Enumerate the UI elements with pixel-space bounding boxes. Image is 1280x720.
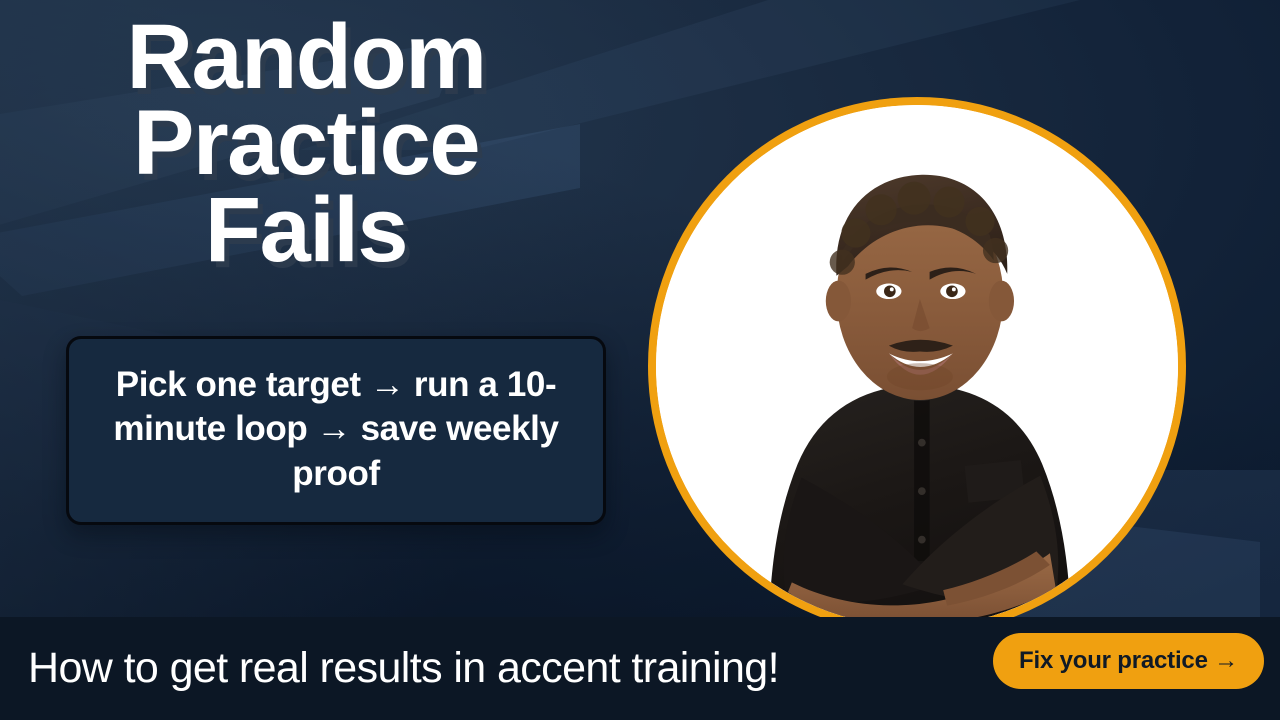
page-title: Random Practice Fails (36, 14, 576, 273)
subtitle-text: Pick one target → run a 10-minute loop →… (91, 363, 581, 496)
portrait-illustration (656, 105, 1178, 627)
thumbnail-canvas: Random Practice Fails Pick one target → … (0, 0, 1280, 720)
fix-your-practice-button[interactable]: Fix your practice → (993, 633, 1264, 689)
portrait-circle-frame (648, 97, 1186, 635)
portrait-photo (656, 105, 1178, 627)
subtitle-card: Pick one target → run a 10-minute loop →… (66, 336, 606, 525)
bottom-bar: How to get real results in accent traini… (0, 617, 1280, 720)
bottom-headline: How to get real results in accent traini… (28, 644, 779, 693)
